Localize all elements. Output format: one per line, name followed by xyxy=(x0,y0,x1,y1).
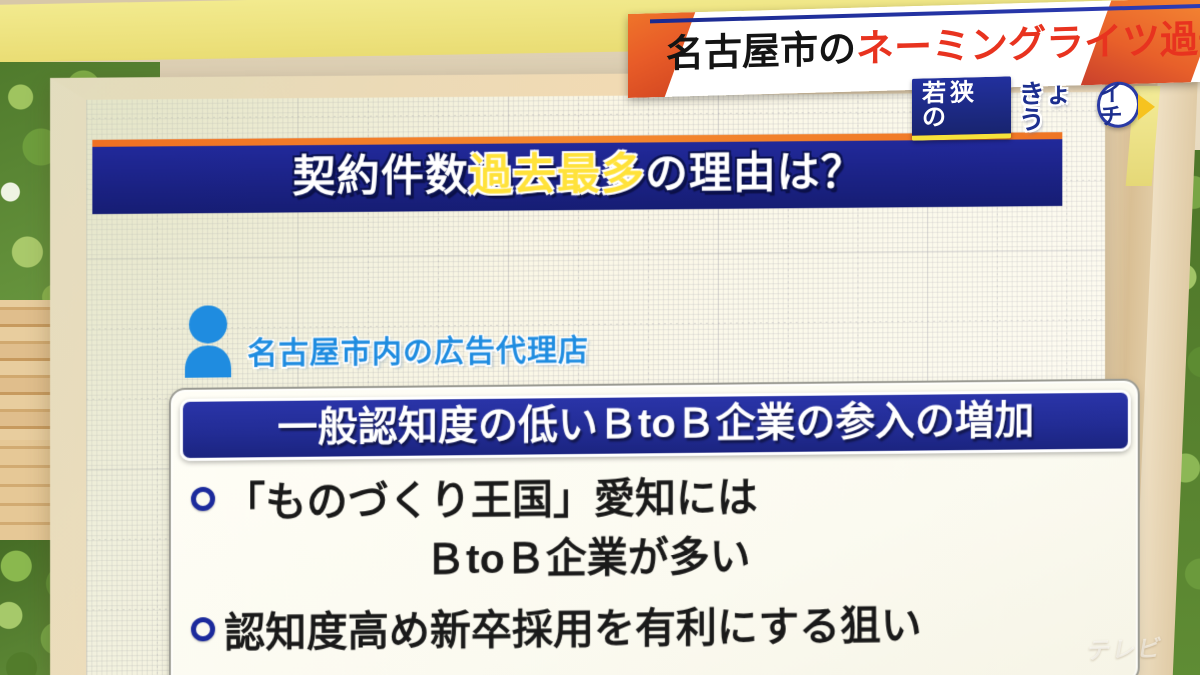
news-strap-highlight: ネーミングライツ過去最多 xyxy=(856,18,1200,69)
program-logo: 若狭の きょう イチ xyxy=(912,81,1140,133)
bullet-text: 認知度高め新卒採用を有利にする狙い xyxy=(224,596,921,663)
news-strap-text: 名古屋市のネーミングライツ過去最多 xyxy=(666,10,1124,87)
bullet-item: 認知度高め新卒採用を有利にする狙い xyxy=(191,596,922,664)
right-arrow-icon xyxy=(1138,94,1155,120)
circle-bullet-icon xyxy=(191,617,215,641)
bullet-text: 「ものづくり王国」愛知には ＢtoＢ企業が多い xyxy=(224,468,758,593)
source-label: 名古屋市内の広告代理店 xyxy=(247,336,589,377)
bullet-1-line-2: ＢtoＢ企業が多い xyxy=(224,528,758,593)
circle-bullet-icon xyxy=(191,487,215,511)
headline-part-highlight: 過去最多 xyxy=(469,150,645,199)
bullet-item: 「ものづくり王国」愛知には ＢtoＢ企業が多い xyxy=(191,468,758,593)
person-icon xyxy=(179,303,237,378)
program-logo-title-part-2: イチ xyxy=(1100,81,1137,128)
news-strap-lead: 名古屋市の xyxy=(666,31,856,74)
panel-subbanner-text: 一般認知度の低いＢtoＢ企業の参入の増加 xyxy=(277,401,1034,449)
headline-part-1: 契約件数 xyxy=(292,152,468,202)
headline-blue-bar: 契約件数過去最多の理由は？ xyxy=(92,139,1062,214)
program-logo-title-part-1: きょう xyxy=(1019,79,1095,133)
headline-text: 契約件数過去最多の理由は？ xyxy=(292,152,864,200)
bullet-2-line-1: 認知度高め新卒採用を有利にする狙い xyxy=(224,602,921,656)
bullet-1-line-1: 「ものづくり王国」愛知には xyxy=(224,474,758,526)
panel-subbanner: 一般認知度の低いＢtoＢ企業の参入の増加 xyxy=(180,390,1131,461)
headline-part-2: の理由は？ xyxy=(645,149,864,199)
content-panel: 一般認知度の低いＢtoＢ企業の参入の増加 「ものづくり王国」愛知には ＢtoＢ企… xyxy=(169,379,1140,675)
program-logo-badge: イチ xyxy=(1097,81,1140,128)
source-attribution: 名古屋市内の広告代理店 xyxy=(179,300,589,378)
headline-banner: 契約件数過去最多の理由は？ xyxy=(92,132,1062,214)
program-logo-prefix: 若狭の xyxy=(912,76,1011,140)
presentation-board: 契約件数過去最多の理由は？ 名古屋市内の広告代理店 一般認知度の低いＢtoＢ企業… xyxy=(50,70,1105,675)
